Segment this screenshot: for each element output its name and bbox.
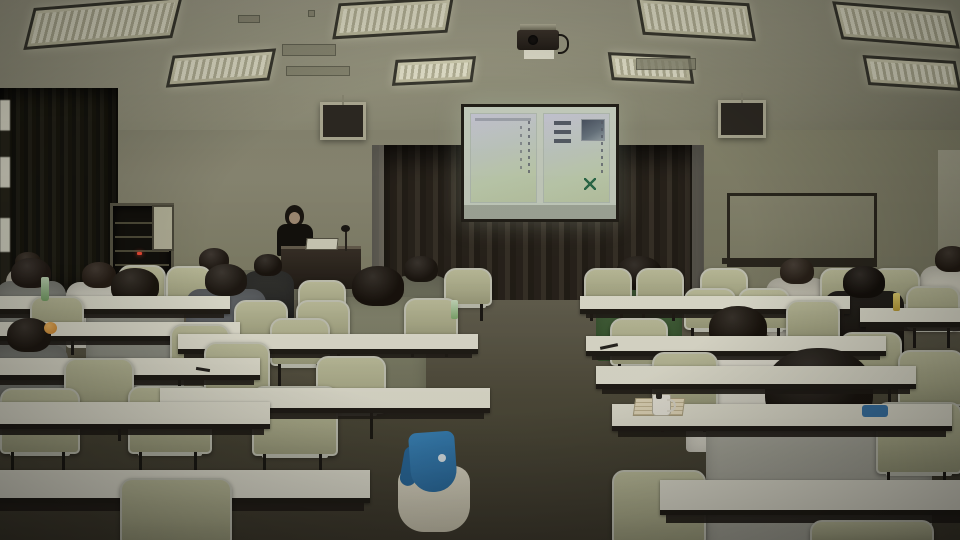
attendee-navy-suit-head xyxy=(205,264,247,296)
orange-fruit xyxy=(44,322,57,334)
slide-page-left xyxy=(470,113,537,203)
wall-speaker-left xyxy=(320,102,366,140)
microphone-stand xyxy=(345,229,347,251)
screen-bottom-bar xyxy=(464,205,616,219)
slide-page-right xyxy=(543,113,610,203)
ceiling-vent-4 xyxy=(286,66,350,76)
ceiling-vent-2 xyxy=(308,10,315,17)
vertical-text-line xyxy=(520,126,522,168)
ceiling-vent-5 xyxy=(636,58,696,70)
projected-slide xyxy=(470,113,610,203)
blue-item-on-desk xyxy=(862,405,888,417)
chair-31[interactable] xyxy=(120,478,232,540)
chair-17-leg xyxy=(913,328,916,348)
speaker-stem xyxy=(741,93,743,103)
page-header-band xyxy=(475,118,531,121)
backpack-logo-icon xyxy=(438,454,446,462)
presenter-face xyxy=(289,212,300,224)
wall-control-panel[interactable] xyxy=(152,205,174,251)
projection-screen[interactable] xyxy=(461,104,619,222)
vertical-text-line xyxy=(528,121,530,176)
desk-row7-right xyxy=(660,480,960,515)
projector-icon[interactable] xyxy=(514,24,564,58)
desk-row6-left xyxy=(0,402,270,429)
ceiling-light-5-icon xyxy=(636,0,756,41)
chair-17-leg xyxy=(947,328,950,348)
seal-stamp-icon xyxy=(584,178,596,190)
chair-33[interactable] xyxy=(810,520,934,540)
microphone-icon xyxy=(341,225,350,232)
whiteboard[interactable] xyxy=(727,193,877,267)
backpack xyxy=(398,432,470,532)
ceiling-light-4-icon xyxy=(392,56,476,86)
desk-row5-right-frame xyxy=(618,431,946,437)
ceiling-vent-1 xyxy=(238,15,260,23)
desk-row4-right xyxy=(596,366,916,389)
drink-bottle xyxy=(41,277,49,301)
attendee-black-jacket-head xyxy=(843,266,885,298)
chair-19-leg xyxy=(278,364,281,386)
drink-bottle xyxy=(451,300,458,319)
lecture-hall-photo xyxy=(0,0,960,540)
power-led-icon xyxy=(137,252,142,255)
ceiling-vent-3 xyxy=(282,44,336,56)
projector-body xyxy=(517,30,559,50)
mug-contents xyxy=(656,392,662,399)
desk-row4-right-frame xyxy=(602,389,910,394)
backpack-flap xyxy=(408,430,458,493)
attendee-tan-jacket-head xyxy=(352,266,404,306)
chair-4-leg xyxy=(480,304,483,321)
desk-row6-left-frame xyxy=(0,429,264,435)
laptop[interactable] xyxy=(305,238,338,250)
drink-bottle xyxy=(893,293,900,311)
projector-lens xyxy=(528,35,538,45)
vertical-text-line xyxy=(601,121,603,176)
desk-row2-right xyxy=(860,308,960,327)
projector-plate xyxy=(524,50,554,59)
desk-row2-right-frame xyxy=(866,327,960,331)
attendee-right-dark-head xyxy=(780,258,814,284)
ceiling-light-8-icon xyxy=(863,55,960,91)
attendee-left-low-head xyxy=(7,318,51,352)
attendee-white-far-right-head xyxy=(935,246,960,272)
speaker-stem xyxy=(342,95,344,105)
wall-speaker-right xyxy=(718,100,766,138)
book-title-block xyxy=(554,121,571,147)
